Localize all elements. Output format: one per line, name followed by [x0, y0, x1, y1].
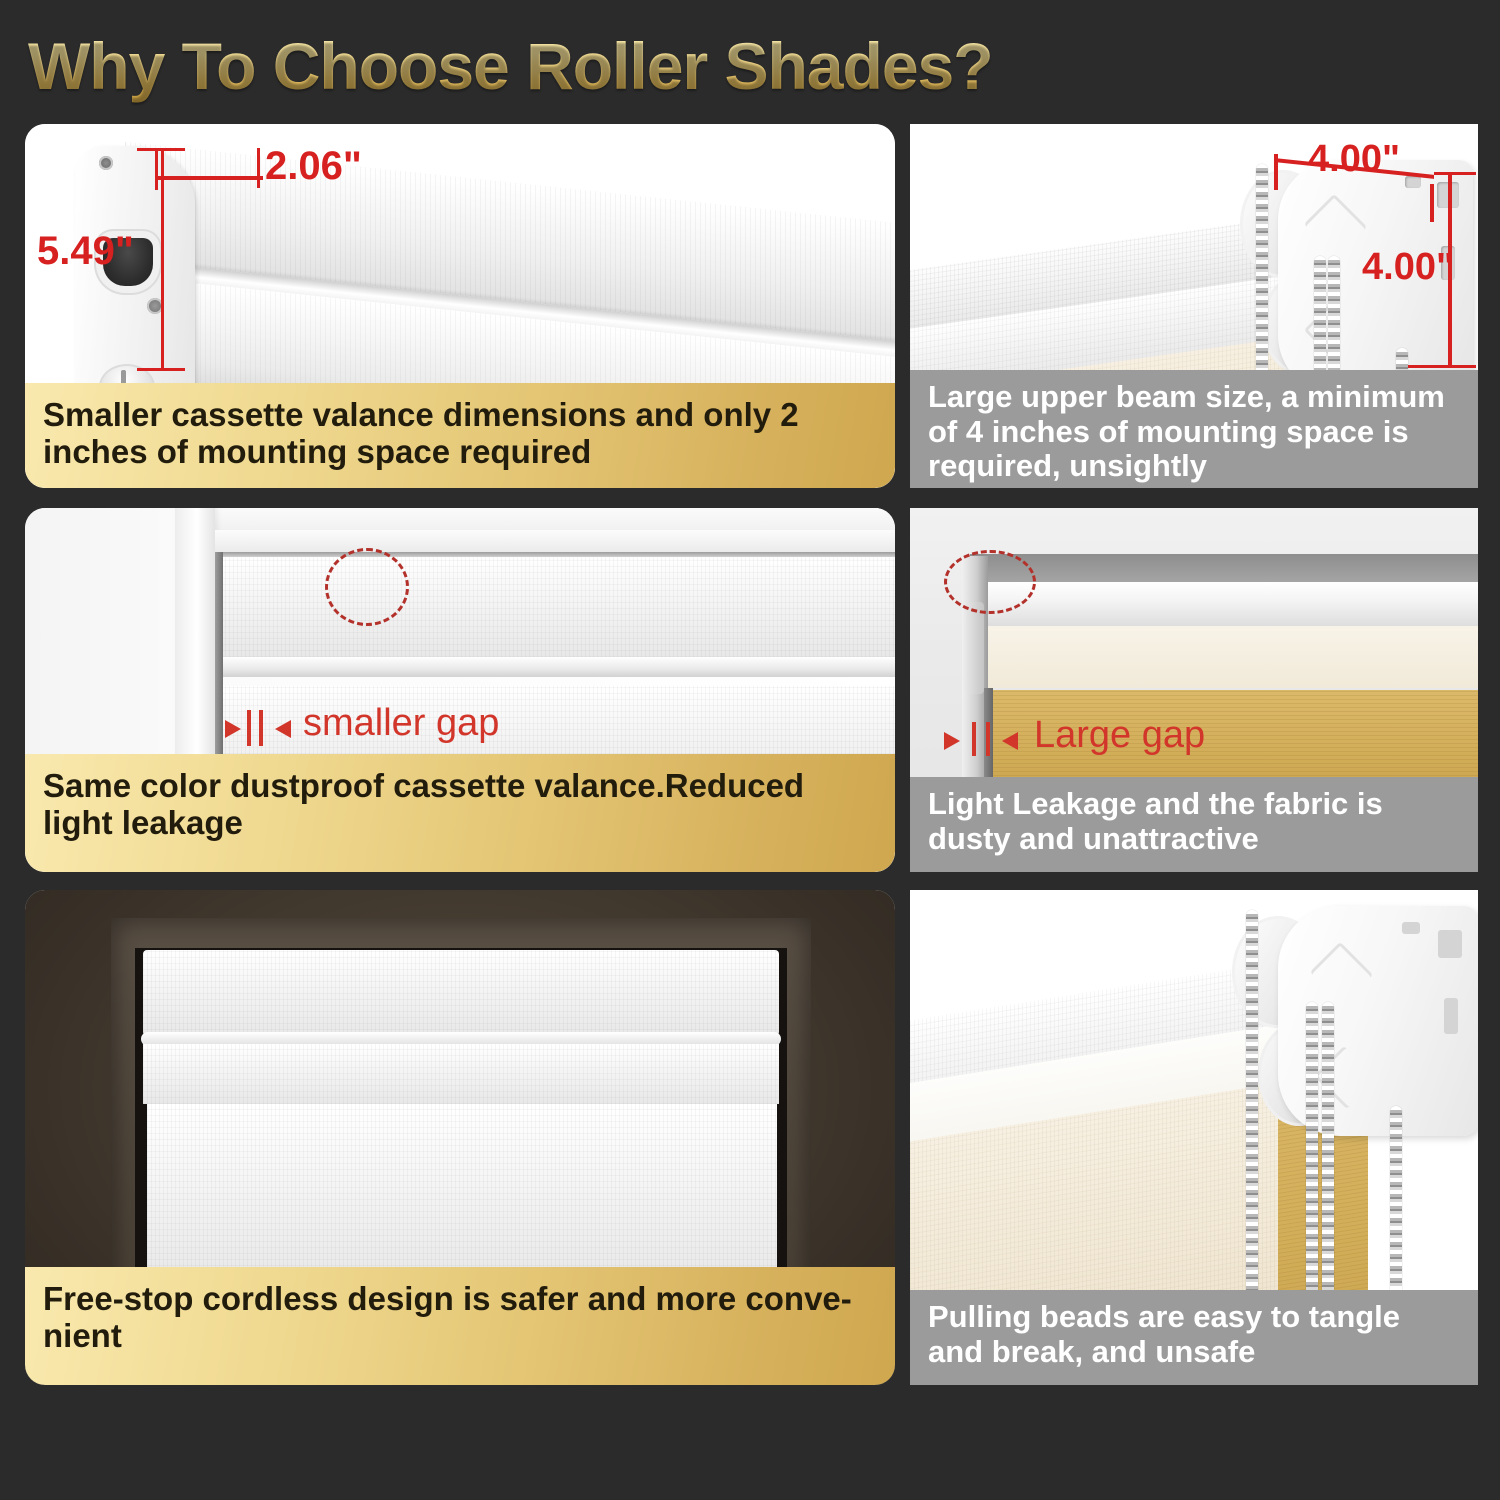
caption-bottom-left-text: Free-stop cordless design is safer and m…: [43, 1281, 877, 1355]
height-dim-line: [161, 148, 164, 370]
width-dim-extension-left: [155, 148, 158, 190]
caption-bottom-left: Free-stop cordless design is safer and m…: [25, 1267, 895, 1385]
caption-top-right-text: Large upper beam size, a minimum of 4 in…: [928, 380, 1460, 484]
width-dim-line: [155, 176, 263, 180]
gap-arrow-left-icon: [1002, 732, 1018, 750]
panel-top-left[interactable]: 2.06" 5.49" Smaller cassette valance dim…: [25, 124, 895, 488]
comparison-grid: 2.06" 5.49" Smaller cassette valance dim…: [0, 0, 1500, 1500]
beam-height-tick-top: [1434, 172, 1476, 175]
panel-bottom-left[interactable]: Free-stop cordless design is safer and m…: [25, 890, 895, 1385]
gap-arrow-left-icon: [275, 720, 291, 738]
bead-chain-1: [1256, 164, 1268, 394]
panel-bottom-right[interactable]: Pulling beads are easy to tangle and bre…: [910, 890, 1478, 1385]
height-dimension-label: 5.49": [37, 229, 134, 274]
caption-mid-right: Light Leakage and the fabric is dusty an…: [910, 777, 1478, 872]
caption-mid-right-text: Light Leakage and the fabric is dusty an…: [928, 787, 1460, 856]
beam-height-tick-bottom: [1408, 365, 1476, 368]
smaller-gap-label: smaller gap: [303, 702, 499, 745]
width-dimension-label: 2.06": [265, 144, 362, 189]
panel-top-right[interactable]: 4.00" 4.00" Large upper beam size, a min…: [910, 124, 1478, 488]
large-gap-label: Large gap: [1034, 714, 1205, 757]
panel-mid-left[interactable]: smaller gap Same color dustproof cassett…: [25, 508, 895, 872]
caption-top-right: Large upper beam size, a minimum of 4 in…: [910, 370, 1478, 488]
panel-mid-right[interactable]: Large gap Light Leakage and the fabric i…: [910, 508, 1478, 872]
beam-height-label: 4.00": [1362, 246, 1454, 289]
caption-mid-left-text: Same color dustproof cassette valance.Re…: [43, 768, 877, 842]
width-dim-extension-right: [257, 148, 260, 188]
caption-bottom-right: Pulling beads are easy to tangle and bre…: [910, 1290, 1478, 1385]
height-dim-tick-top: [137, 148, 185, 151]
highlight-circle-icon: [325, 548, 409, 626]
height-dim-tick-bottom: [137, 368, 185, 371]
caption-mid-left: Same color dustproof cassette valance.Re…: [25, 754, 895, 872]
side-clip: [966, 602, 984, 694]
cassette-valance: [221, 552, 895, 680]
gap-arrow-right-icon: [944, 732, 960, 750]
caption-top-left-text: Smaller cassette valance dimensions and …: [43, 397, 877, 471]
highlight-circle-icon: [944, 550, 1036, 614]
shade-fabric: [147, 1104, 777, 1284]
valance-lower: [143, 1044, 779, 1104]
caption-top-left: Smaller cassette valance dimensions and …: [25, 383, 895, 488]
cassette-valance: [143, 950, 779, 1036]
beam-width-tick-right: [1430, 184, 1434, 222]
caption-bottom-right-text: Pulling beads are easy to tangle and bre…: [928, 1300, 1460, 1369]
gap-arrow-right-icon: [225, 720, 241, 738]
window-inner-frame: [215, 530, 895, 552]
roller-tube: [962, 582, 1478, 628]
fabric-top-band: [970, 626, 1478, 688]
beam-width-label: 4.00": [1308, 138, 1400, 181]
